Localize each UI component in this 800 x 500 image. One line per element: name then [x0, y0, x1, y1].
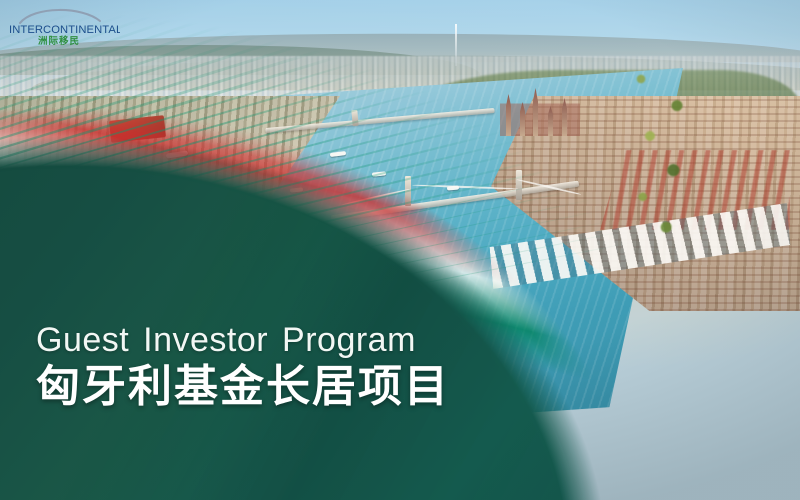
logo-mark-icon: INTERCONTINENTAL 洲际移民	[8, 4, 120, 46]
arc-swoosh-icon	[20, 10, 100, 23]
green-wave-body	[0, 0, 800, 500]
title-block: Guest Investor Program 匈牙利基金长居项目	[36, 322, 450, 410]
logo-brand-en: INTERCONTINENTAL	[9, 24, 120, 36]
title-english: Guest Investor Program	[36, 322, 450, 359]
title-chinese: 匈牙利基金长居项目	[36, 363, 450, 411]
brand-logo[interactable]: INTERCONTINENTAL 洲际移民	[8, 4, 120, 46]
hero-banner: INTERCONTINENTAL 洲际移民 Guest Investor Pro…	[0, 0, 800, 500]
logo-brand-cn: 洲际移民	[38, 35, 80, 46]
